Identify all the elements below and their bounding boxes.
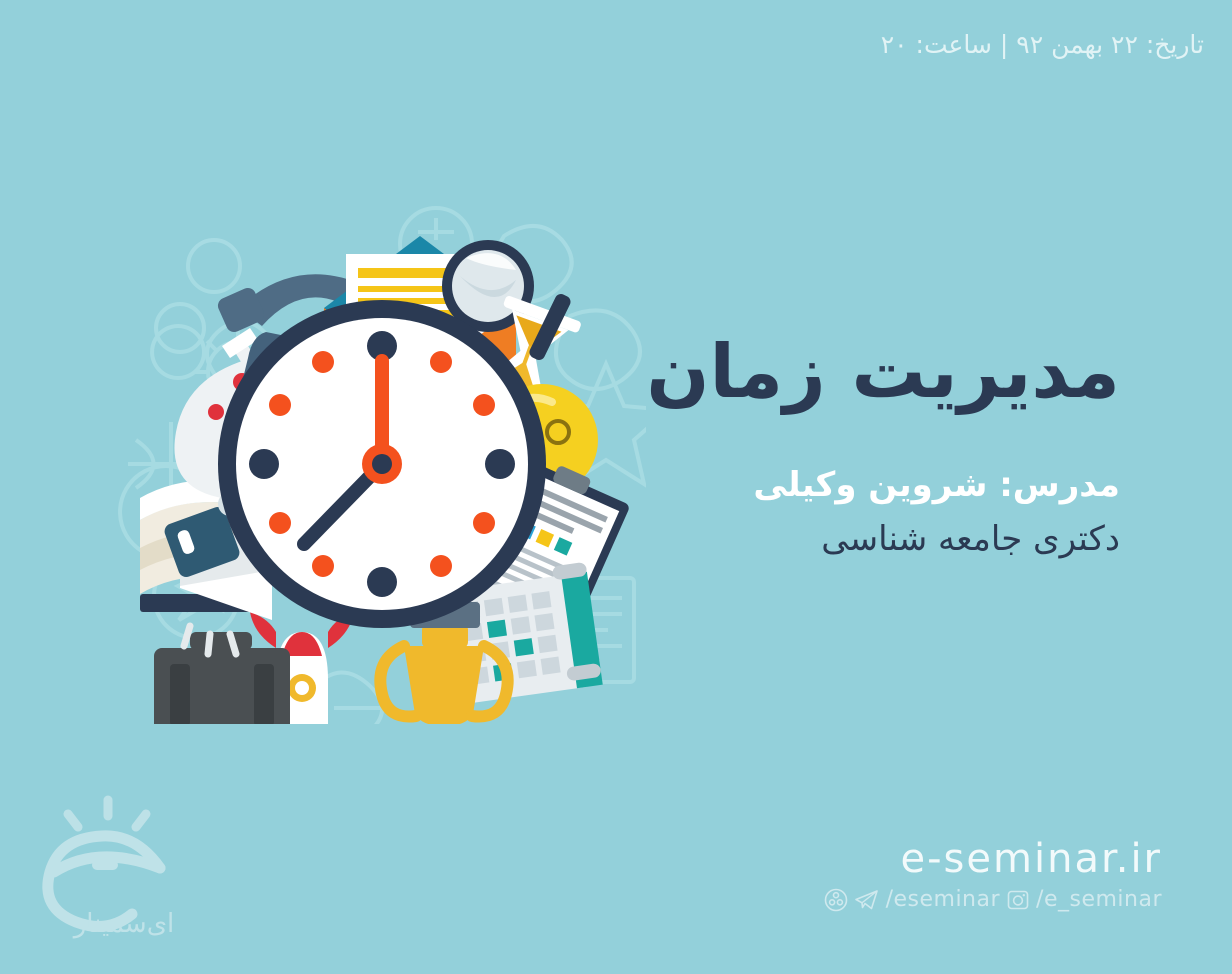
briefcase-icon [154,632,290,724]
brand-block: e-seminar.ir /eseminar [824,837,1162,912]
instagram-handle[interactable]: /e_seminar [1036,887,1162,912]
film-reel-icon[interactable] [824,888,848,912]
header-bar: تاریخ: ۲۲ بهمن ۹۲ | ساعت: ۲۰ [28,30,1204,60]
instagram-icon[interactable] [1006,888,1030,912]
instructor-name: مدرس: شروین وکیلی [560,463,1120,509]
slide-canvas: تاریخ: ۲۲ بهمن ۹۲ | ساعت: ۲۰ [0,0,1232,974]
telegram-icon[interactable] [854,888,880,912]
page-title: مدیریت زمان [560,330,1120,415]
logo-rays [68,800,146,827]
logo-pupil [92,860,118,870]
logo-wordmark: ای‌سمینار [72,909,175,939]
eseminar-logo[interactable]: ای‌سمینار [34,790,214,950]
title-block: مدیریت زمان مدرس: شروین وکیلی دکتری جامع… [560,330,1120,563]
website-url[interactable]: e-seminar.ir [824,837,1162,881]
telegram-handle[interactable]: /eseminar [886,887,1000,912]
header-date-time: تاریخ: ۲۲ بهمن ۹۲ | ساعت: ۲۰ [881,30,1204,60]
instructor-credential: دکتری جامعه شناسی [560,517,1120,563]
social-links-row: /eseminar /e_seminar [824,887,1162,912]
